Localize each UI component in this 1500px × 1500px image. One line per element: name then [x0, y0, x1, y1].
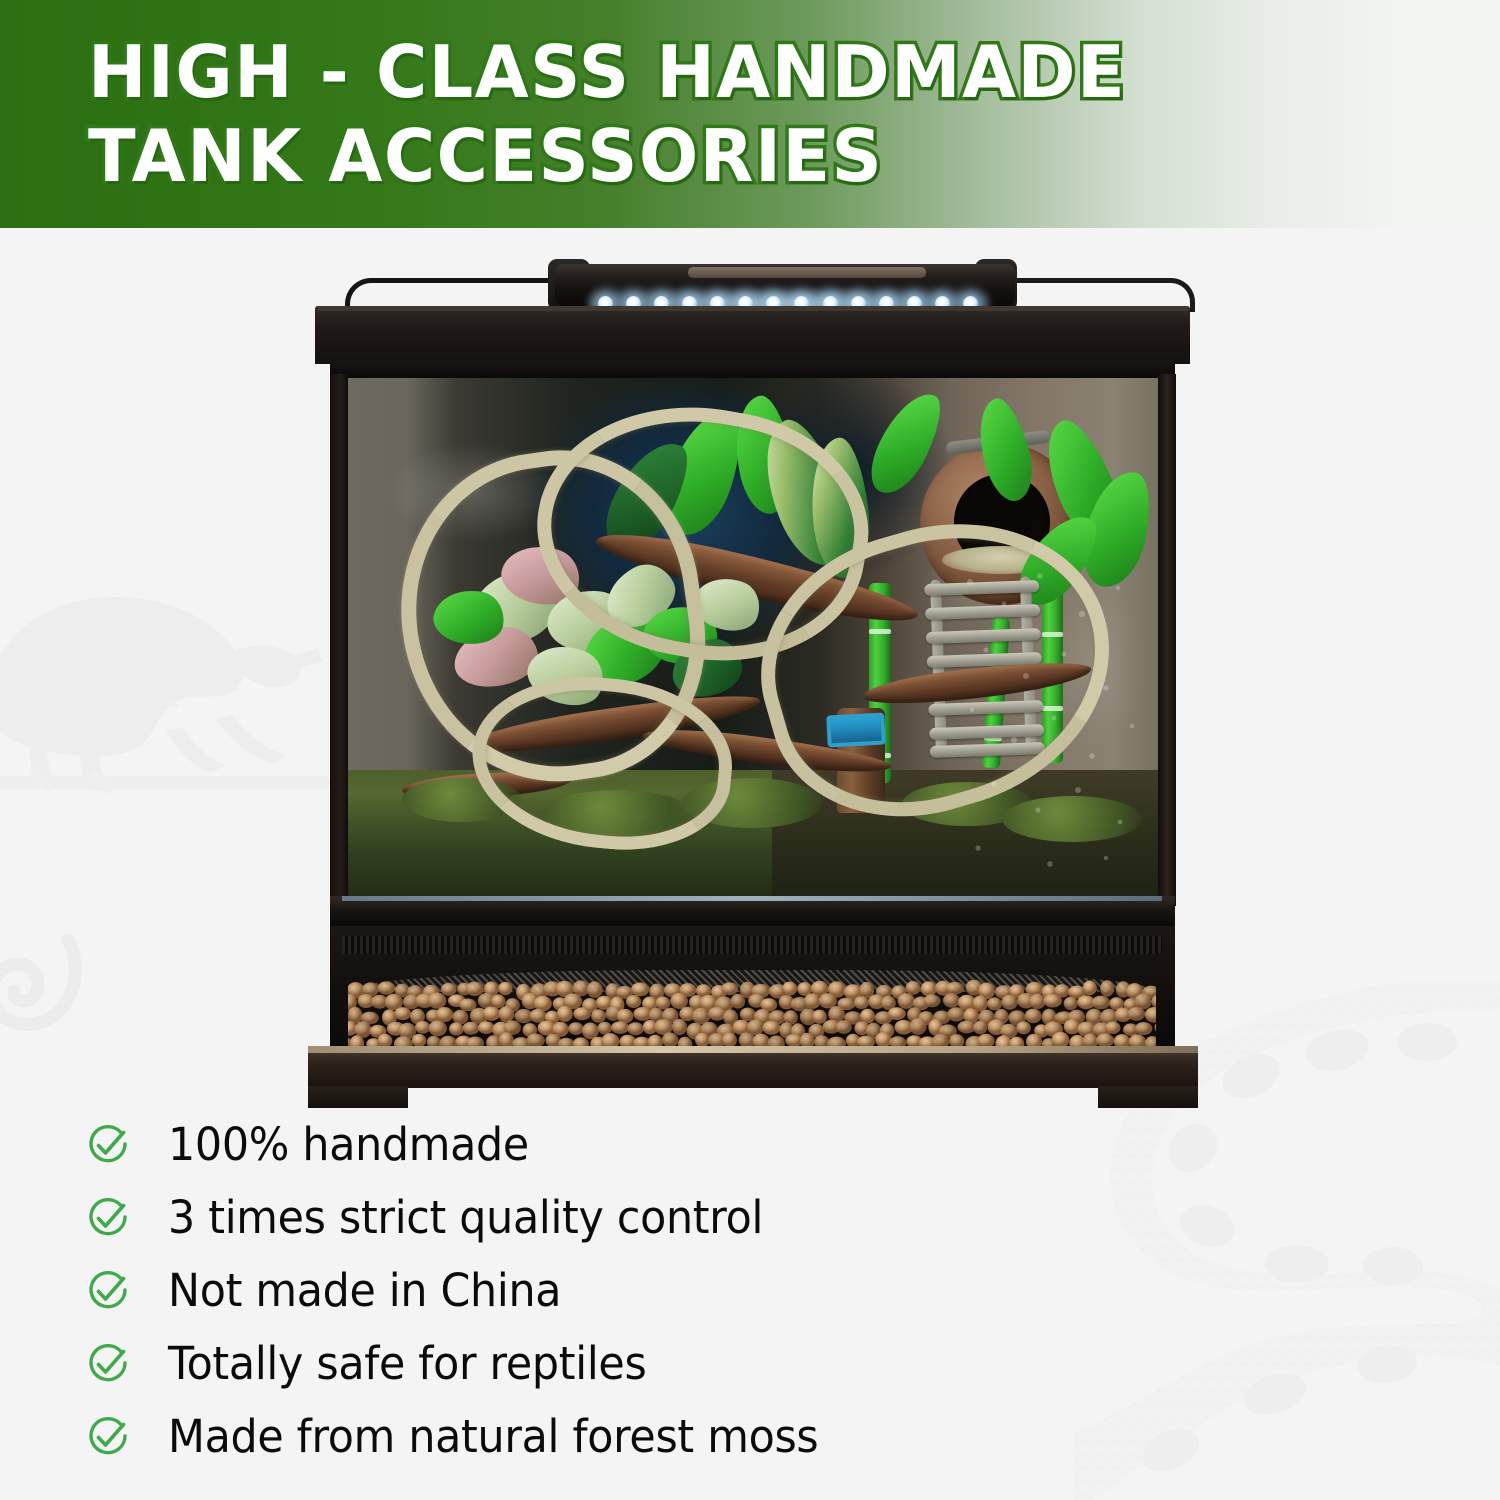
tank-frame-right	[1158, 374, 1176, 906]
feature-item: 100% handmade	[86, 1108, 1186, 1181]
tank-glass-interior	[342, 378, 1162, 898]
check-circle-icon	[86, 1415, 130, 1459]
tank-glass-bottom-edge	[342, 896, 1162, 901]
tail-spiral-watermark	[0, 920, 102, 1050]
led-bar-highlight	[688, 267, 926, 278]
feature-list: 100% handmade 3 times strict quality con…	[86, 1108, 1186, 1473]
tank-hood-edge	[318, 306, 1188, 311]
chameleon-watermark	[0, 570, 330, 870]
tank-hood	[315, 306, 1190, 364]
feature-item: Totally safe for reptiles	[86, 1327, 1186, 1400]
check-circle-icon	[86, 1196, 130, 1240]
tank-stand-foot	[308, 1086, 408, 1108]
check-circle-icon	[86, 1342, 130, 1386]
tank-frame-left	[330, 374, 348, 906]
page-title: HIGH - CLASS HANDMADE TANK ACCESSORIES	[88, 30, 1388, 198]
leca-drainage-layer	[348, 978, 1156, 1050]
feature-item: 3 times strict quality control	[86, 1181, 1186, 1254]
check-circle-icon	[86, 1269, 130, 1313]
feature-label: 100% handmade	[168, 1118, 529, 1171]
feature-label: Made from natural forest moss	[168, 1410, 818, 1463]
tank-vent-strip	[342, 936, 1162, 954]
header-banner: HIGH - CLASS HANDMADE TANK ACCESSORIES	[0, 0, 1500, 228]
water-droplets	[942, 558, 1157, 888]
feature-item: Not made in China	[86, 1254, 1186, 1327]
product-infographic: HIGH - CLASS HANDMADE TANK ACCESSORIES	[0, 0, 1500, 1500]
feature-label: Not made in China	[168, 1264, 561, 1317]
product-image-terrarium	[300, 248, 1205, 1088]
feature-item: Made from natural forest moss	[86, 1400, 1186, 1473]
check-circle-icon	[86, 1123, 130, 1167]
tank-stand	[308, 1048, 1198, 1088]
tank-stand-top-edge	[308, 1046, 1198, 1053]
feature-label: Totally safe for reptiles	[168, 1337, 646, 1390]
feature-label: 3 times strict quality control	[168, 1191, 763, 1244]
tank-stand-foot	[1098, 1086, 1198, 1108]
